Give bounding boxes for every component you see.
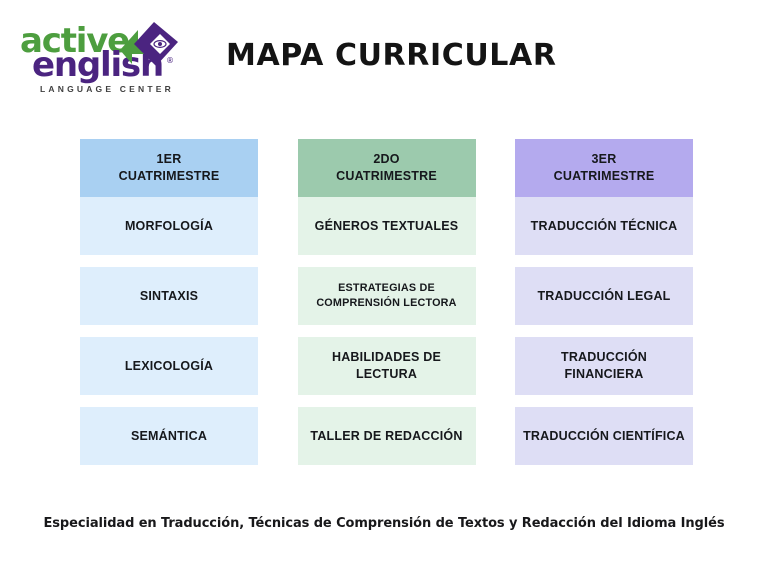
course-cell[interactable]: ESTRATEGIAS DE COMPRENSIÓN LECTORA — [298, 267, 476, 325]
course-cell[interactable]: TRADUCCIÓN TÉCNICA — [515, 197, 693, 255]
column-header-line-2: CUATRIMESTRE — [336, 168, 437, 185]
column-header-line-1: 2DO — [373, 151, 399, 168]
brand-logo: active english ® LANGUAGE CENTER — [14, 20, 186, 100]
page-title: MAPA CURRICULAR — [226, 38, 557, 73]
column-quarter-3: 3ER CUATRIMESTRE TRADUCCIÓN TÉCNICA TRAD… — [515, 139, 693, 469]
column-header-quarter-3: 3ER CUATRIMESTRE — [515, 139, 693, 197]
page-header: active english ® LANGUAGE CENTER MAPA CU… — [0, 0, 768, 110]
column-header-line-2: CUATRIMESTRE — [119, 168, 220, 185]
course-cell[interactable]: TRADUCCIÓN CIENTÍFICA — [515, 407, 693, 465]
course-cell[interactable]: SEMÁNTICA — [80, 407, 258, 465]
logo-tagline: LANGUAGE CENTER — [40, 84, 174, 94]
curriculum-grid: 1ER CUATRIMESTRE MORFOLOGÍA SINTAXIS LEX… — [80, 139, 693, 469]
course-cell[interactable]: TALLER DE REDACCIÓN — [298, 407, 476, 465]
course-cell[interactable]: MORFOLOGÍA — [80, 197, 258, 255]
column-quarter-1: 1ER CUATRIMESTRE MORFOLOGÍA SINTAXIS LEX… — [80, 139, 258, 469]
diamond-compass-icon — [118, 20, 180, 68]
column-header-line-1: 3ER — [592, 151, 617, 168]
course-cell[interactable]: TRADUCCIÓN FINANCIERA — [515, 337, 693, 395]
column-quarter-2: 2DO CUATRIMESTRE GÉNEROS TEXTUALES ESTRA… — [298, 139, 476, 469]
footer-caption: Especialidad en Traducción, Técnicas de … — [0, 516, 768, 531]
column-header-quarter-2: 2DO CUATRIMESTRE — [298, 139, 476, 197]
column-header-line-2: CUATRIMESTRE — [554, 168, 655, 185]
column-header-quarter-1: 1ER CUATRIMESTRE — [80, 139, 258, 197]
column-header-line-1: 1ER — [157, 151, 182, 168]
course-cell[interactable]: SINTAXIS — [80, 267, 258, 325]
course-cell[interactable]: LEXICOLOGÍA — [80, 337, 258, 395]
course-cell[interactable]: HABILIDADES DE LECTURA — [298, 337, 476, 395]
course-cell[interactable]: TRADUCCIÓN LEGAL — [515, 267, 693, 325]
course-cell[interactable]: GÉNEROS TEXTUALES — [298, 197, 476, 255]
